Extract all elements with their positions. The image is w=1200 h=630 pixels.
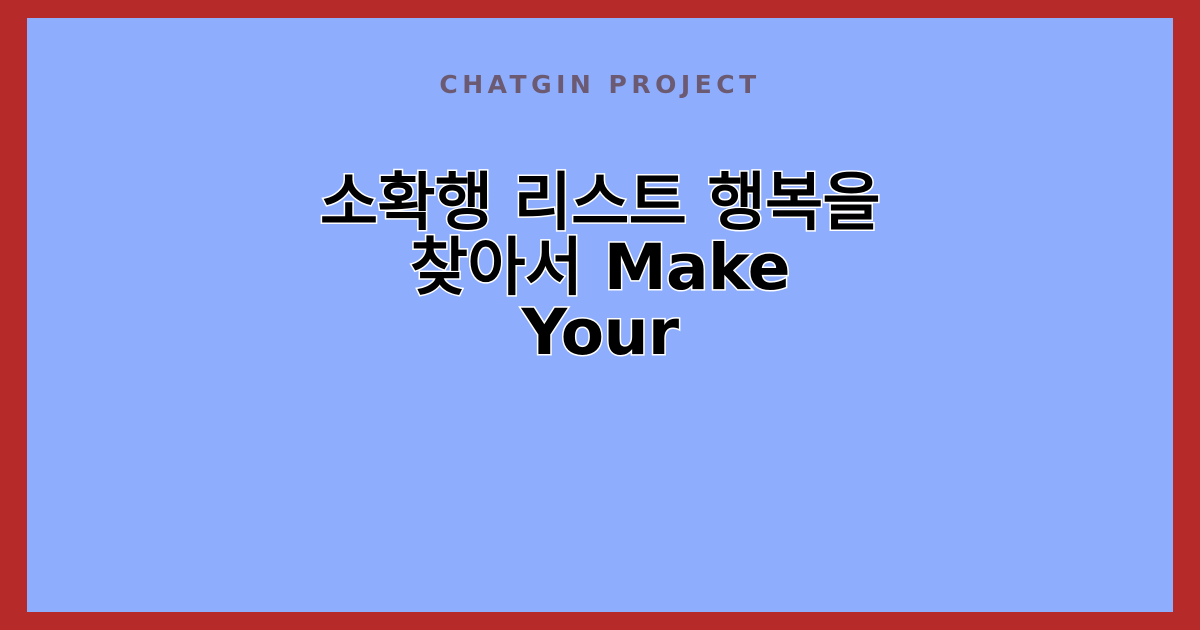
page-title-line-1: 소확행 리스트 행복을 [27,171,1173,236]
page-title: 소확행 리스트 행복을 찾아서 Make Your [27,97,1173,366]
card-inner-panel: CHATGIN PROJECT 소확행 리스트 행복을 찾아서 Make You… [27,18,1173,612]
thumbnail-card: CHATGIN PROJECT 소확행 리스트 행복을 찾아서 Make You… [0,0,1200,630]
page-title-line-2: 찾아서 Make [27,236,1173,301]
eyebrow-label: CHATGIN PROJECT [27,18,1173,97]
card-content: CHATGIN PROJECT 소확행 리스트 행복을 찾아서 Make You… [27,18,1173,366]
page-title-line-3: Your [27,301,1173,366]
